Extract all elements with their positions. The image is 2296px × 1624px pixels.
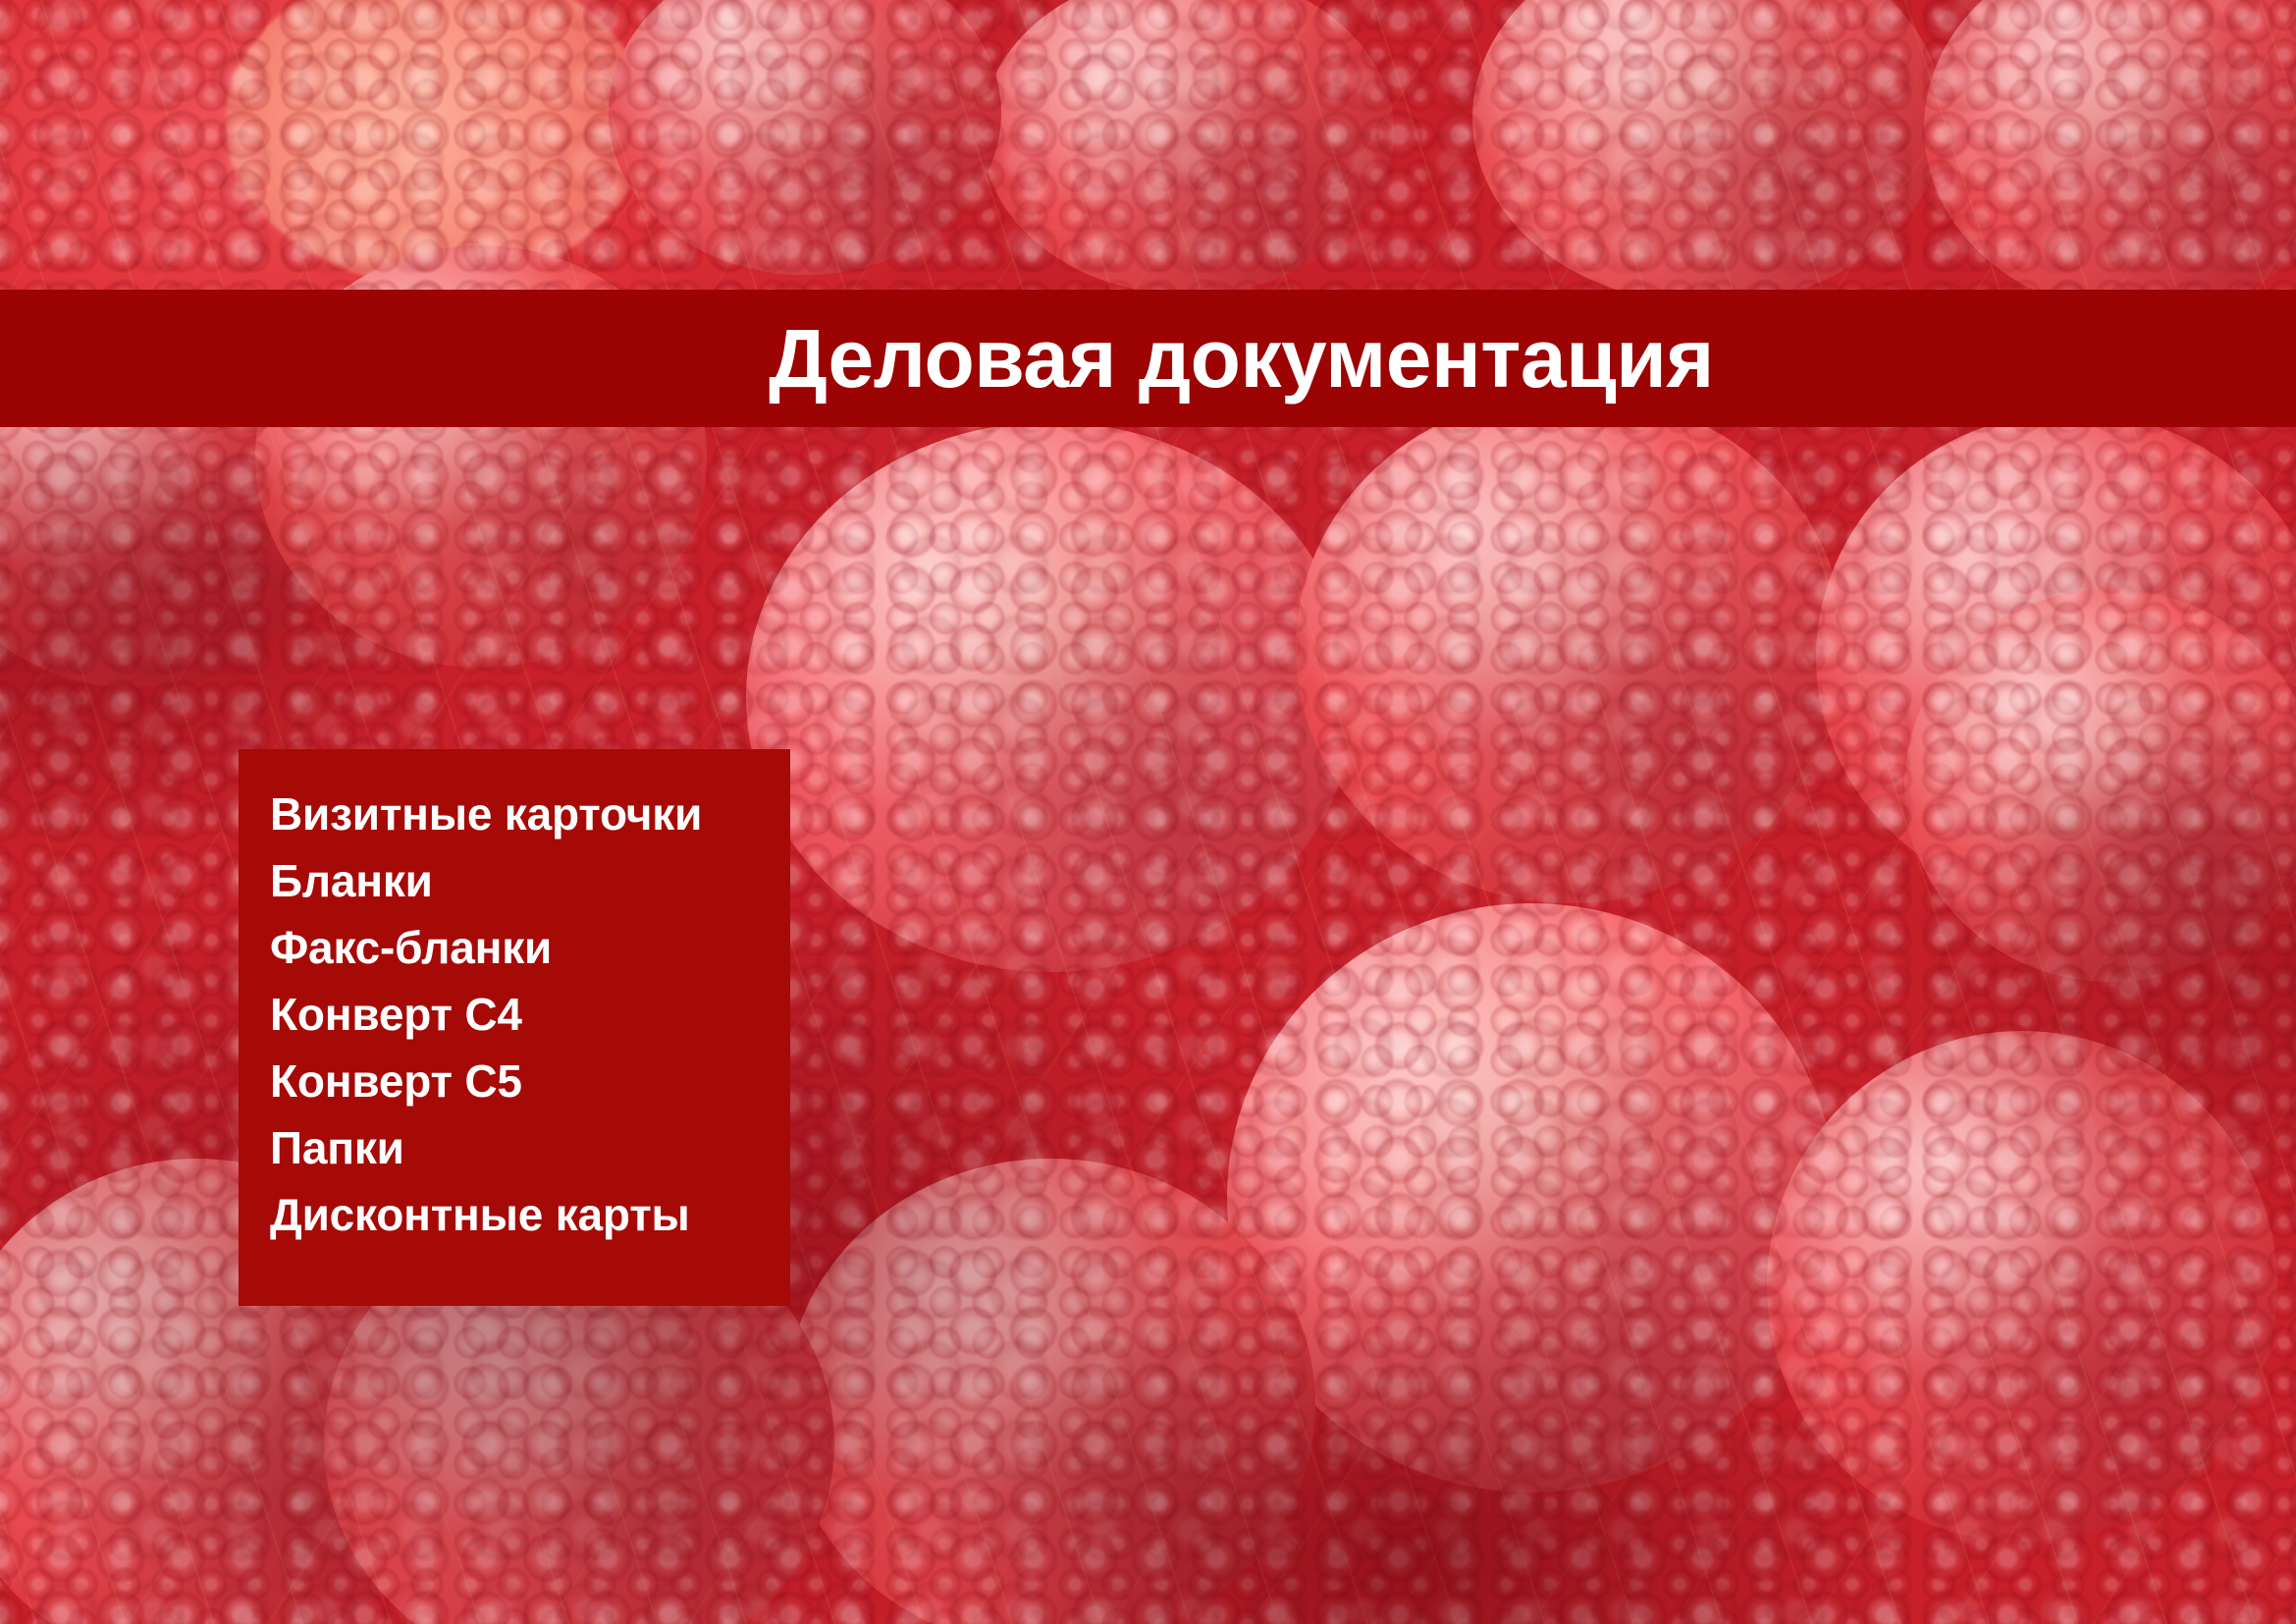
- list-item: Визитные карточки: [270, 781, 790, 847]
- list-item: Бланки: [270, 847, 790, 914]
- list-item: Дисконтные карты: [270, 1181, 790, 1248]
- list-item: Конверт С5: [270, 1048, 790, 1114]
- product-list: Визитные карточки Бланки Факс-бланки Кон…: [270, 781, 790, 1248]
- slide-canvas: Деловая документация Визитные карточки Б…: [0, 0, 2296, 1624]
- list-item: Конверт С4: [270, 981, 790, 1048]
- title-banner: Деловая документация: [0, 290, 2296, 427]
- list-item: Папки: [270, 1114, 790, 1181]
- list-item: Факс-бланки: [270, 914, 790, 981]
- page-title: Деловая документация: [582, 317, 1714, 400]
- product-list-panel: Визитные карточки Бланки Факс-бланки Кон…: [239, 749, 790, 1306]
